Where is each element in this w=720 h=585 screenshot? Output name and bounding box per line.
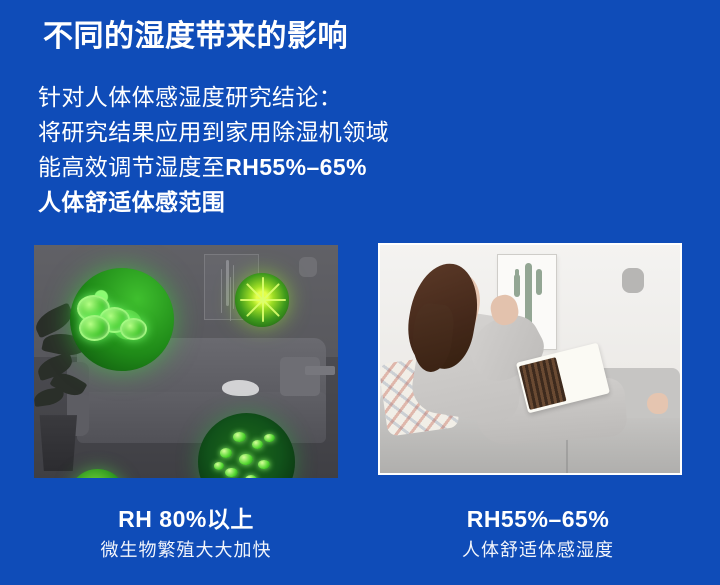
caption-left-subtitle: 微生物繁殖大大加快 [6,538,366,562]
wall [34,245,338,357]
woman-legs [474,377,628,447]
sofa [77,338,326,441]
sofa-arm [67,362,88,437]
woman-head [421,268,485,345]
dark-room-with-microbes-photo [34,245,338,478]
intro-line-3-humidity-range: RH55%–65% [225,154,367,180]
woman-reading-on-sofa-photo [378,243,682,475]
side-table [305,366,335,375]
virus-spike [246,283,263,300]
intro-line-4: 人体舒适体感范围 [38,185,488,220]
plant-leaf [34,303,76,339]
cactus-wall-art [497,254,557,350]
microbe-cluster-large-icon [70,268,173,371]
virus-dot [245,475,258,478]
caption-row: RH 80%以上 微生物繁殖大大加快 RH55%–65% 人体舒适体感湿度 [0,505,720,562]
page-title: 不同的湿度带来的影响 [43,18,348,56]
floor [380,386,680,473]
virus-spike [262,299,279,316]
virus-dot [252,440,264,449]
wall-speaker-icon [622,268,644,293]
caption-right-title: RH55%–65% [358,505,718,533]
microbe-cell [79,315,110,341]
microbe-cell [77,295,110,322]
sofa-seat [77,392,326,443]
intro-line-3-prefix: 能高效调节湿度至 [38,154,225,180]
open-book [516,343,610,414]
caption-right-subtitle: 人体舒适体感湿度 [358,538,718,562]
virus-dot [225,468,238,478]
woman-torso [408,306,531,426]
caption-left-title: RH 80%以上 [6,505,366,533]
sofa-pillow [280,357,320,397]
microbe-small-icon [70,469,125,478]
wall [380,245,680,386]
couch-backrest [590,368,680,418]
intro-line-3: 能高效调节湿度至RH55%–65% [38,150,488,185]
couch-seam [566,391,568,473]
virus-dot [239,454,253,465]
microbe-virus-small-icon [235,273,290,327]
virus-spike [263,299,286,301]
virus-spike [246,299,263,316]
virus-dot [214,462,225,470]
virus-spike [262,277,264,300]
intro-line-2: 将研究结果应用到家用除湿机领域 [38,115,488,150]
virus-spike [240,299,263,301]
floor [34,357,338,478]
wall-speaker-icon [299,257,317,277]
dark-room-scene [34,245,338,478]
couch [380,391,680,473]
microbe-cell [99,307,130,333]
virus-dot [258,460,270,469]
woman-foot [647,393,668,414]
patterned-cushion [378,354,459,436]
caption-left: RH 80%以上 微生物繁殖大大加快 [6,505,366,562]
plant-leaf [35,352,75,381]
microbe-virus-large-icon [198,413,295,478]
virus-dot [233,432,246,442]
virus-dot [264,434,275,442]
plant-pot [37,415,80,471]
cactus-illustration [525,263,532,329]
virus-spike [262,283,279,300]
bright-room-scene [380,245,680,473]
microbe-cell [120,318,147,341]
bird-ornament [222,380,258,396]
intro-paragraph: 针对人体体感湿度研究结论： 将研究结果应用到家用除湿机领域 能高效调节湿度至RH… [38,80,488,220]
plant-leaf [34,387,65,407]
woman-hand [488,293,521,328]
plant-leaf [50,368,88,401]
caption-right: RH55%–65% 人体舒适体感湿度 [358,505,718,562]
woman-arm [460,305,551,391]
woman-hair [401,258,484,373]
virus-spike [262,300,264,323]
wall-art-frame [204,254,259,319]
woman-hair-strand [410,302,456,374]
plant-leaf [41,329,87,358]
virus-dot [220,448,233,458]
intro-line-1: 针对人体体感湿度研究结论： [38,80,488,115]
